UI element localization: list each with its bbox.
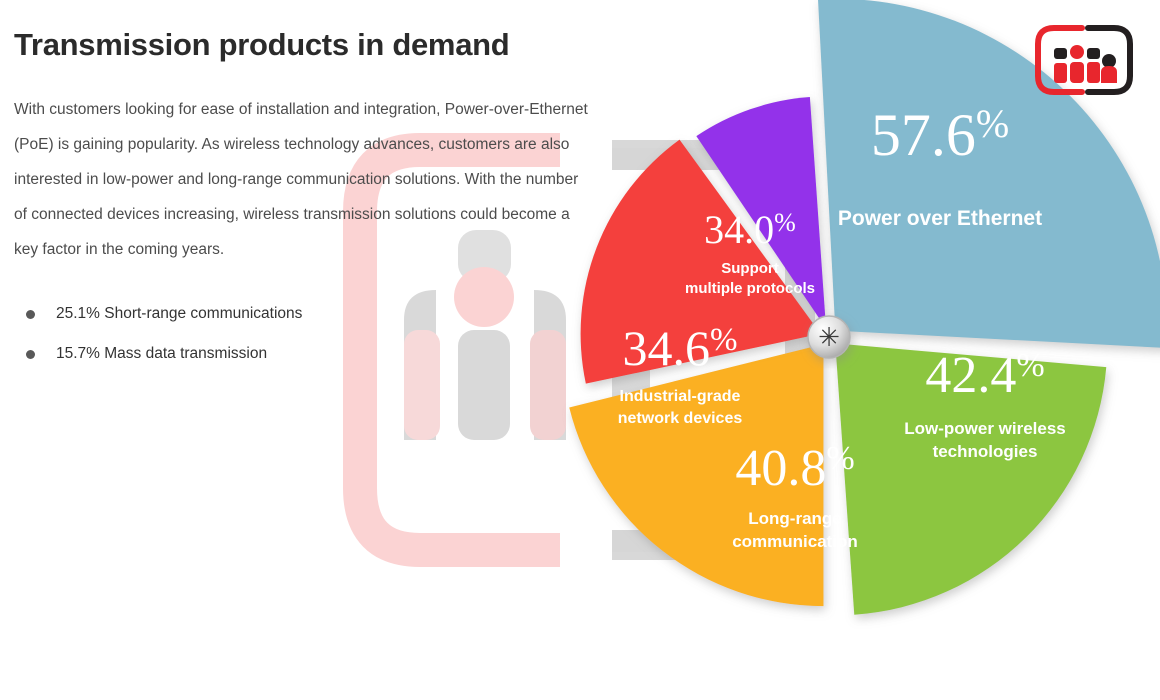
company-logo [1030, 22, 1138, 98]
slice-percentage: 34.6% [623, 320, 738, 376]
asterisk-icon: ✳ [818, 323, 840, 353]
list-item-label: 25.1% Short-range communications [56, 305, 302, 323]
page-title: Transmission products in demand [14, 28, 614, 62]
list-item-label: 15.7% Mass data transmission [56, 345, 267, 363]
list-item: 15.7% Mass data transmission [14, 345, 614, 363]
pie-center-hub: ✳ [808, 316, 850, 358]
text-column: Transmission products in demand With cus… [14, 28, 614, 385]
bullet-list: 25.1% Short-range communications 15.7% M… [14, 305, 614, 363]
logo-figures [1054, 45, 1117, 83]
bullet-dot-icon [26, 350, 35, 359]
list-item: 25.1% Short-range communications [14, 305, 614, 323]
bullet-dot-icon [26, 310, 35, 319]
infographic-canvas: Transmission products in demand With cus… [0, 0, 1160, 700]
intro-paragraph: With customers looking for ease of insta… [14, 92, 594, 267]
slice-label: Power over Ethernet [838, 207, 1042, 230]
slice-percentage: 40.8% [735, 440, 854, 497]
